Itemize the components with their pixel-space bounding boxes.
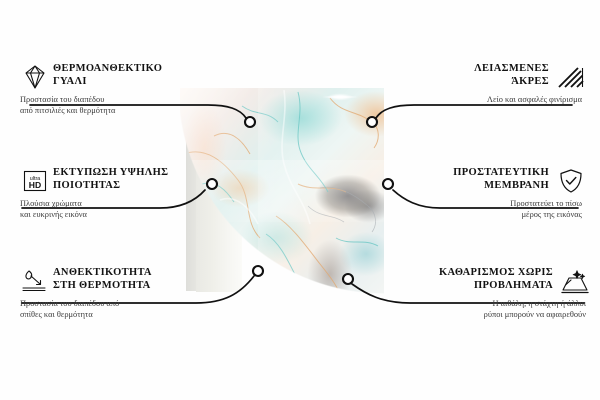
feature-heading: ΠΡΟΣΤΑΤΕΥΤΙΚΗ ΜΕΜΒΡΑΝΗ: [382, 166, 582, 192]
feature-heat-resistance[interactable]: ΑΝΘΕΚΤΙΚΟΤΗΤΑ ΣΤΗ ΘΕΡΜΟΤΗΤΑ Προστασία το…: [20, 266, 215, 320]
feature-heading: ΚΑΘΑΡΙΣΜΟΣ ΧΩΡΙΣ ΠΡΟΒΛΗΜΑΤΑ: [376, 266, 586, 292]
feature-title: ΑΝΘΕΚΤΙΚΟΤΗΤΑ ΣΤΗ ΘΕΡΜΟΤΗΤΑ: [53, 266, 152, 292]
ultra-hd-bottom-label: HD: [29, 180, 41, 190]
bevel-edge-icon: [556, 64, 582, 86]
feature-high-quality-print[interactable]: ultra HD ΕΚΤΥΠΩΣΗ ΥΨΗΛΗΣ ΠΟΙΟΤΗΤΑΣ Πλούσ…: [20, 166, 210, 220]
feature-heading: ΑΝΘΕΚΤΙΚΟΤΗΤΑ ΣΤΗ ΘΕΡΜΟΤΗΤΑ: [20, 266, 215, 292]
connector-dot-smooth-edges: [367, 117, 377, 127]
feature-title: ΕΚΤΥΠΩΣΗ ΥΨΗΛΗΣ ΠΟΙΟΤΗΤΑΣ: [53, 166, 168, 192]
feature-heading: ΛΕΙΑΣΜΕΝΕΣ ΆΚΡΕΣ: [382, 62, 582, 88]
feature-description: Λείο και ασφαλές φινίρισμα: [382, 94, 582, 105]
infographic-canvas: ΘΕΡΜΟΑΝΘΕΚΤΙΚΟ ΓΥΑΛΙ Προστασία του διαπέ…: [0, 0, 600, 400]
feature-description: Πλούσια χρώματα και ευκρινής εικόνα: [20, 198, 210, 220]
feature-title: ΚΑΘΑΡΙΣΜΟΣ ΧΩΡΙΣ ΠΡΟΒΛΗΜΑΤΑ: [439, 266, 553, 292]
feature-title: ΛΕΙΑΣΜΕΝΕΣ ΆΚΡΕΣ: [474, 62, 549, 88]
shield-check-icon: [556, 168, 582, 190]
feature-title: ΘΕΡΜΟΑΝΘΕΚΤΙΚΟ ΓΥΑΛΙ: [53, 62, 162, 88]
feature-description: Η αιθάλη, η στάχτη ή άλλοι ρύποι μπορούν…: [376, 298, 586, 320]
sponge-sparkle-icon: [560, 268, 586, 290]
feature-heat-resistant-glass[interactable]: ΘΕΡΜΟΑΝΘΕΚΤΙΚΟ ΓΥΑΛΙ Προστασία του διαπέ…: [20, 62, 210, 116]
connector-smooth-edges: [376, 105, 572, 118]
connector-dot-heat-resistance: [253, 266, 263, 276]
feature-heading: ΘΕΡΜΟΑΝΘΕΚΤΙΚΟ ΓΥΑΛΙ: [20, 62, 210, 88]
feature-description: Προστασία του διαπέδου από σπίθες και θε…: [20, 298, 215, 320]
connector-dot-heat-resistant-glass: [245, 117, 255, 127]
feature-heading: ultra HD ΕΚΤΥΠΩΣΗ ΥΨΗΛΗΣ ΠΟΙΟΤΗΤΑΣ: [20, 166, 210, 192]
feature-smooth-edges[interactable]: ΛΕΙΑΣΜΕΝΕΣ ΆΚΡΕΣ Λείο και ασφαλές φινίρι…: [382, 62, 582, 105]
ultra-hd-icon: ultra HD: [20, 168, 46, 190]
feature-easy-cleaning[interactable]: ΚΑΘΑΡΙΣΜΟΣ ΧΩΡΙΣ ΠΡΟΒΛΗΜΑΤΑ Η αιθάλη, η …: [376, 266, 586, 320]
diamond-icon: [20, 64, 46, 86]
feature-title: ΠΡΟΣΤΑΤΕΥΤΙΚΗ ΜΕΜΒΡΑΝΗ: [453, 166, 549, 192]
feature-description: Προστατεύει το πίσω μέρος της εικόνας: [382, 198, 582, 220]
flame-deflect-icon: [20, 268, 46, 290]
feature-protective-membrane[interactable]: ΠΡΟΣΤΑΤΕΥΤΙΚΗ ΜΕΜΒΡΑΝΗ Προστατεύει το πί…: [382, 166, 582, 220]
feature-description: Προστασία του διαπέδου από πιτσιλιές και…: [20, 94, 210, 116]
connector-dot-easy-cleaning: [343, 274, 353, 284]
